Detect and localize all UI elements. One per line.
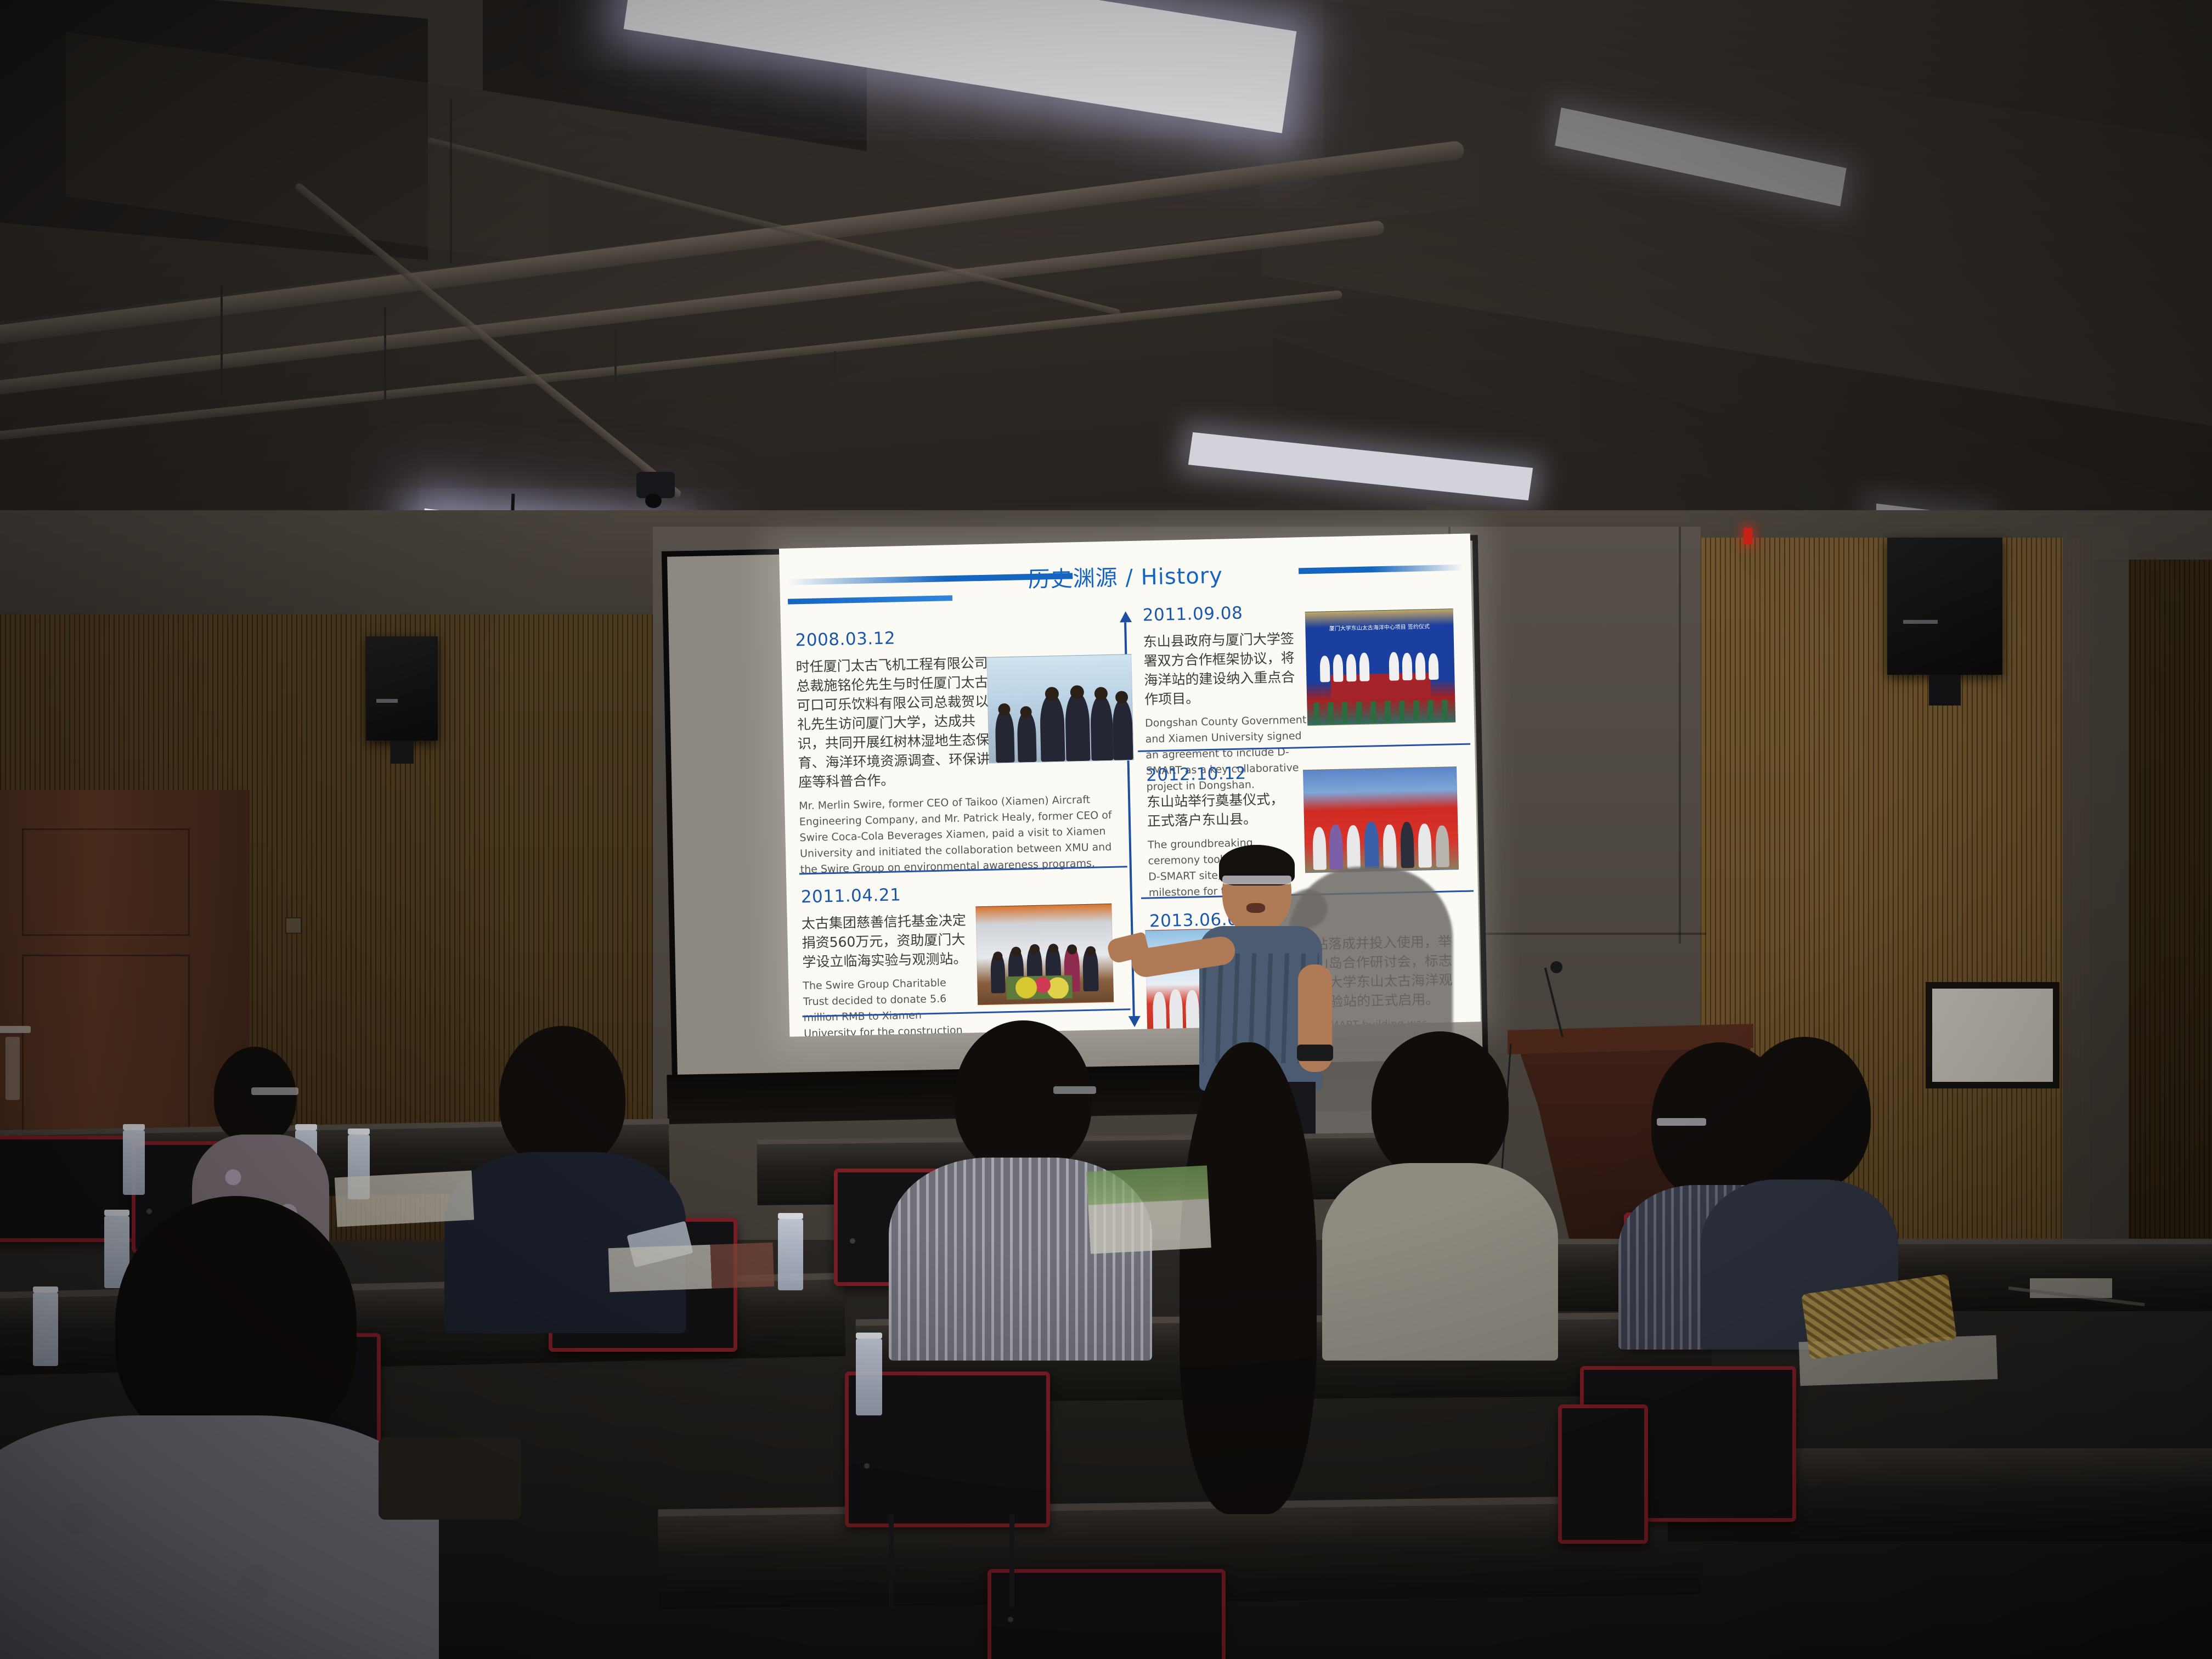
slide-photo-donation [975,904,1114,1005]
open-notebook[interactable] [335,1171,474,1227]
photo-figure [1435,825,1449,867]
wall-seam-3 [1679,527,1681,944]
audience-head [214,1047,296,1144]
timeline-arrow-up-icon [1120,611,1132,622]
door-handle[interactable] [0,1026,31,1033]
photo-plants [1313,699,1449,723]
audience-head [1372,1031,1509,1180]
photo-figure [1112,699,1133,760]
hanger-rod-3 [614,329,617,428]
audience-head [499,1026,625,1169]
chair-knob [864,1463,870,1469]
microphone-head-icon [1550,961,1562,973]
photo-figure [995,710,1015,763]
door-panel-upper [22,828,190,936]
hanger-rod-2 [384,307,386,400]
slide-photo-group [986,654,1133,764]
emergency-indicator-light [1743,528,1752,544]
chair-knob [850,1238,855,1244]
audience-head [115,1196,357,1448]
chair-knob [1008,1617,1013,1622]
chair-leg [889,1514,894,1607]
photo-figure [1065,693,1091,761]
audience-body [0,1415,439,1659]
title-bar-right-icon [1299,565,1463,574]
event-text-cn: 东山县政府与厦门大学签署双方合作框架协议，将海洋站的建设纳入重点合作项目。 [1143,629,1305,709]
photo-figure [1389,652,1399,680]
presenter-glasses-icon [1222,876,1291,884]
photo-flowers [1006,975,1073,1000]
photo-figure [1402,653,1412,680]
water-bottle[interactable] [123,1130,145,1195]
projector-lens-icon [645,494,662,508]
title-accent-bar [788,595,952,605]
photo-banner-text: 厦门大学东山太古海洋中心项目 签约仪式 [1306,621,1453,633]
speaker-bracket-left [391,741,414,764]
wall-framed-picture [1926,982,2059,1088]
event-date: 2011.04.21 [800,880,1125,907]
photo-figure [1017,712,1037,763]
photo-figure [1090,696,1114,761]
handbag[interactable] [379,1437,521,1520]
photo-figure [1415,652,1425,680]
event-text-en: Mr. Merlin Swire, former CEO of Taikoo (… [799,792,1118,878]
audience-member [1317,1031,1564,1361]
chair-leg [1009,1514,1014,1607]
hanger-rod-1 [221,285,223,395]
photo-figure [1428,653,1438,680]
wall-speaker-left [366,636,438,741]
photo-figure [1346,654,1356,681]
event-date: 2008.03.12 [795,624,1119,651]
photo-figure [1319,656,1330,682]
audience-head [955,1020,1092,1174]
photo-figure [1153,992,1167,1032]
event-text-cn: 东山站举行奠基仪式，正式落户东山县。 [1147,789,1290,831]
wall-seam-1 [1454,933,1706,935]
bottle-cap [856,1333,882,1339]
photo-figure [1359,652,1369,681]
lecture-hall-photo: 历史渊源 / History 2008.03.12 时任厦门太古飞机工程有限公司… [0,0,2212,1659]
bottle-cap [348,1128,370,1135]
audience-head [1739,1037,1871,1190]
audience-head [1180,1042,1317,1514]
hanger-rod-6 [450,99,452,263]
water-bottle[interactable] [856,1339,882,1415]
right-wall-concrete-strip [2063,527,2129,1350]
audience-glasses-icon [251,1087,298,1095]
chair[interactable] [1558,1404,1648,1544]
audience-glasses-icon [1053,1086,1096,1094]
speaker-grille-right [1903,620,1938,624]
audience-body [1322,1163,1558,1361]
slide-title-row: 历史渊源 / History [780,548,1471,595]
slide-title: 历史渊源 / History [1028,557,1223,594]
wall-speaker-right [1887,538,2002,675]
printed-handout[interactable] [1086,1165,1211,1254]
door-lock-plate [5,1037,20,1100]
photo-figure [1169,989,1183,1031]
photo-figure [1333,654,1343,681]
wall-light-switch[interactable] [285,917,302,934]
slide-photo-signing: 厦门大学东山太古海洋中心项目 签约仪式 [1305,608,1455,726]
presenter-mouth [1246,903,1265,913]
audience-member-foreground [0,1196,472,1659]
bottle-cap [123,1124,145,1130]
hanger-rod-5 [1114,379,1116,455]
hanger-rod-4 [834,351,836,444]
event-text-cn: 时任厦门太古飞机工程有限公司总裁施铭伦先生与时任厦门太古可口可乐饮料有限公司总裁… [795,653,991,792]
photo-figure [1040,695,1065,762]
speaker-grille-left [376,699,398,703]
speaker-bracket-right [1929,675,1961,706]
water-bottle[interactable] [778,1219,803,1290]
event-text-cn: 太古集团慈善信托基金决定捐资560万元，资助厦门大学设立临海实验与观测站。 [802,911,967,972]
bottle-cap [778,1213,803,1219]
timeline-left-column: 2008.03.12 时任厦门太古飞机工程有限公司总裁施铭伦先生与时任厦门太古可… [788,618,1126,1031]
chair[interactable] [988,1569,1226,1659]
printed-handout[interactable] [608,1243,775,1292]
